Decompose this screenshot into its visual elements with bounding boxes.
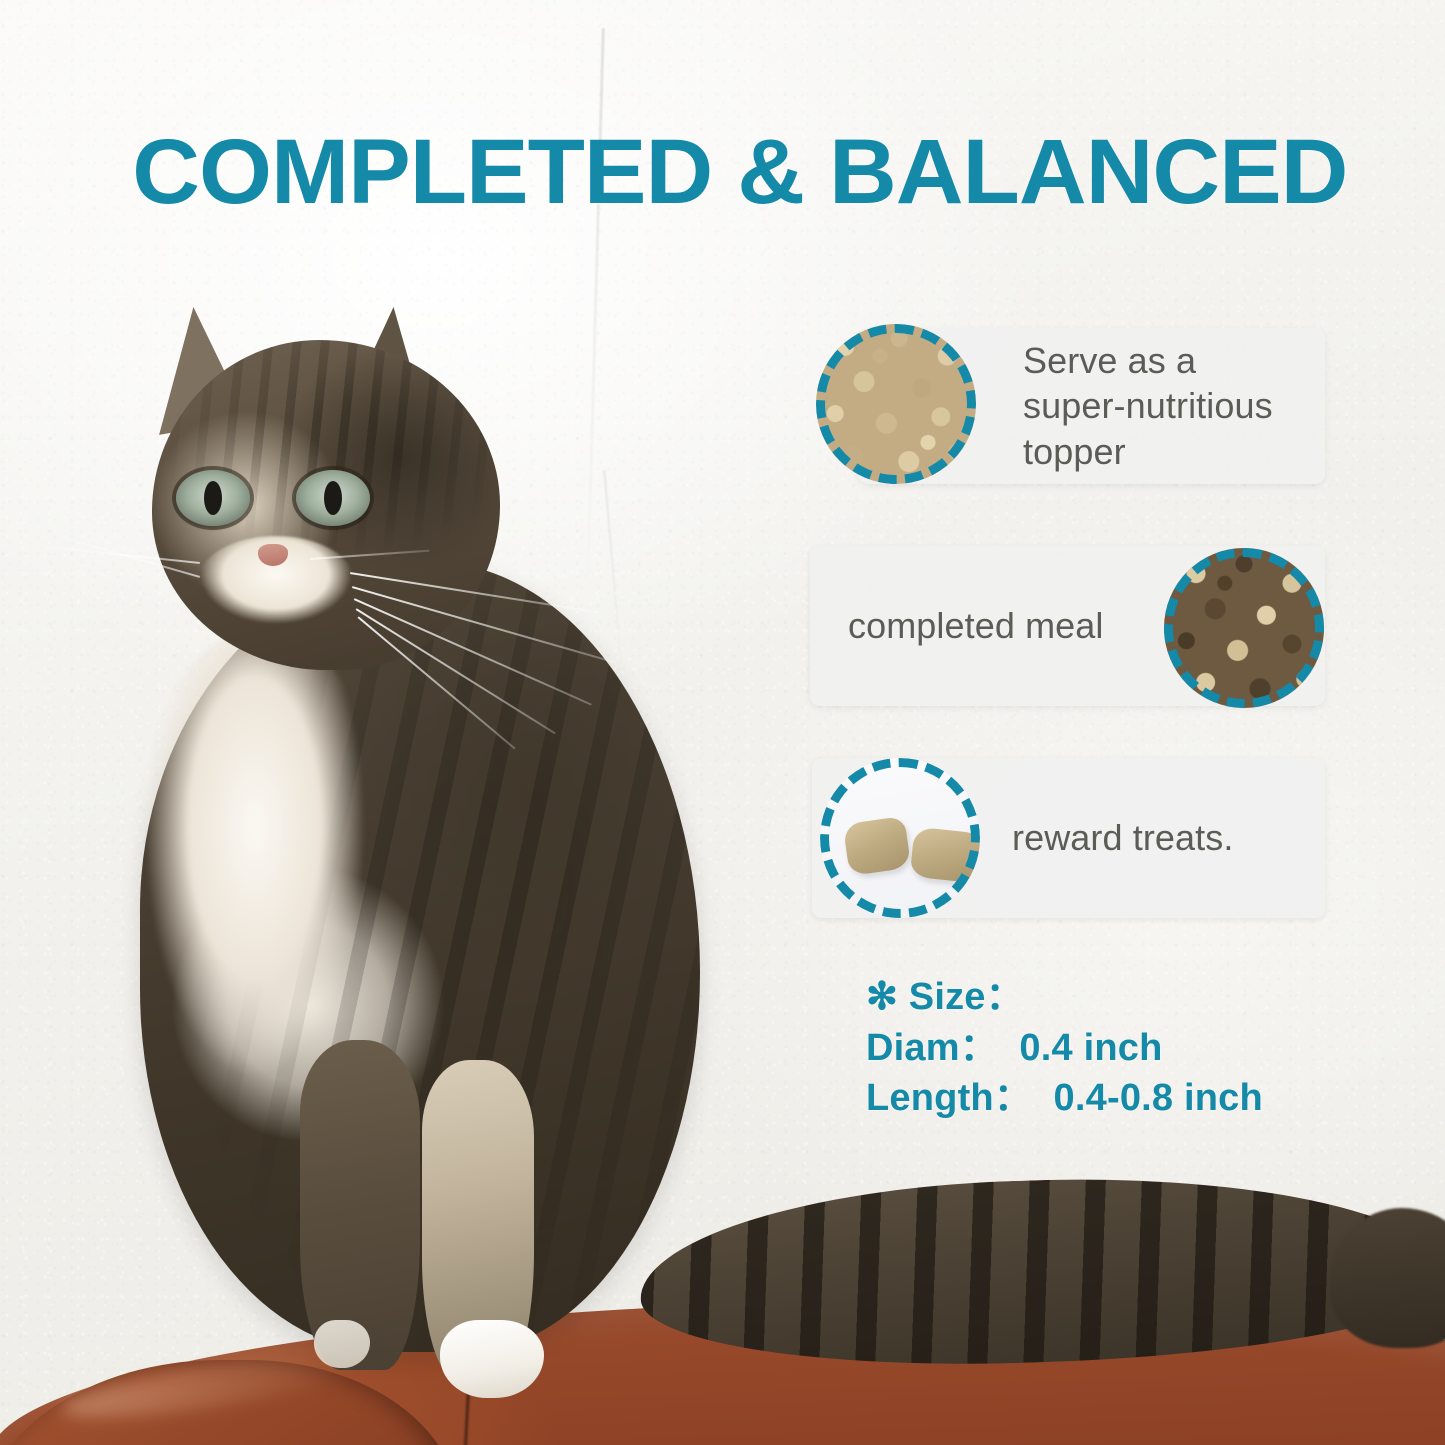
feature-card-topper-label: Serve as a super-nutritious topper [1023,338,1273,474]
size-length: Length： 0.4-0.8 inch [866,1073,1263,1124]
cat-pupil-left [204,481,222,515]
cat-front-leg-back [300,1040,420,1370]
feature-card-meal-label: completed meal [848,603,1104,648]
size-diameter: Diam： 0.4 inch [866,1023,1263,1074]
page-title: COMPLETED & BALANCED [110,126,1370,218]
product-infographic: COMPLETED & BALANCED [0,0,1445,1445]
cat-paw-back [314,1320,370,1368]
cat-eye-left [176,470,250,526]
mixed-kibble-closeup-icon [1164,548,1324,708]
feature-card-treats-label: reward treats. [1012,815,1233,860]
size-spec-block: ✻ Size： Diam： 0.4 inch Length： 0.4-0.8 i… [866,972,1263,1124]
treat-backdrop [820,758,980,918]
beige-kibble-closeup-icon [816,324,976,484]
two-treat-pieces-icon [820,758,980,918]
treat-piece [910,827,980,884]
size-heading: ✻ Size： [866,972,1263,1023]
kibble-texture [1164,548,1324,708]
cat-eye-right [296,470,370,526]
cat-paw-front [440,1320,544,1398]
cat-pupil-right [324,481,342,515]
cat-photo [100,300,860,1445]
kibble-texture [816,324,976,484]
treat-piece [843,816,912,876]
